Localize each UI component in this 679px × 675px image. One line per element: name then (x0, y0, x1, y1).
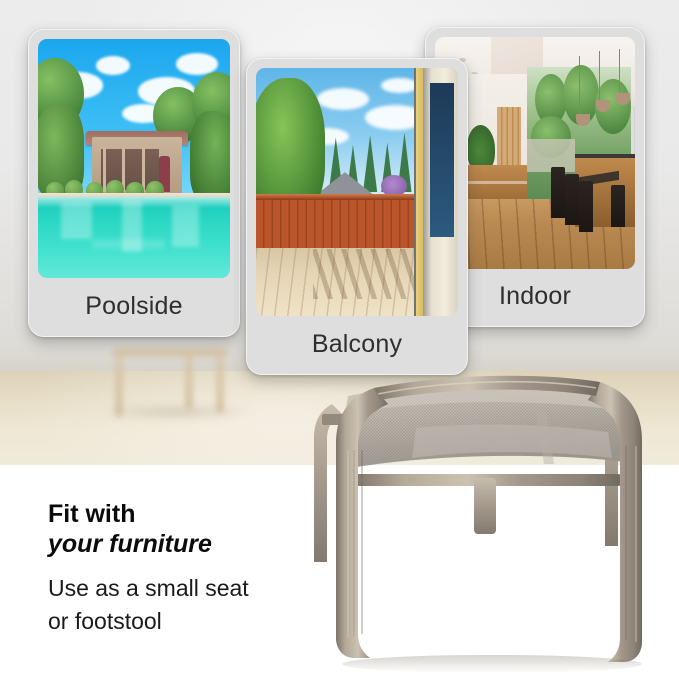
marketing-text-block: Fit with your furniture Use as a small s… (48, 500, 328, 636)
scene-card-label: Balcony (247, 314, 467, 374)
scene-photo-balcony (256, 68, 458, 316)
product-marketing-image: Poolside (0, 0, 679, 675)
subtext-line-2: or footstool (48, 606, 328, 637)
product-ottoman-footstool (296, 366, 679, 675)
headline-line-1: Fit with (48, 500, 328, 530)
scene-card-balcony[interactable]: Balcony (246, 58, 468, 375)
scene-card-poolside[interactable]: Poolside (28, 29, 240, 337)
ottoman-center-support (474, 478, 496, 534)
scene-card-label: Poolside (29, 276, 239, 336)
headline-line-2: your furniture (48, 530, 328, 560)
scene-photo-poolside (38, 39, 230, 278)
ottoman-ground-shadow (342, 655, 642, 673)
table-shadow (96, 404, 256, 420)
subtext-line-1: Use as a small seat (48, 573, 328, 604)
